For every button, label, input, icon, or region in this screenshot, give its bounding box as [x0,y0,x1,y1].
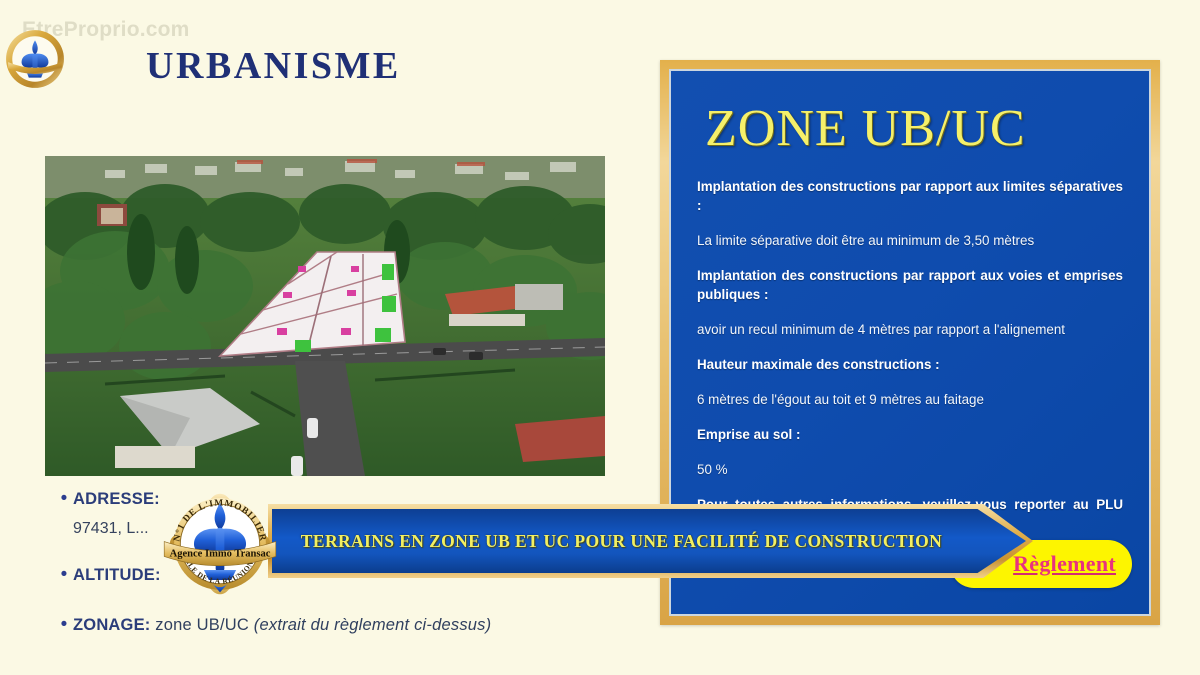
rule-heading-limites: Implantation des constructions par rappo… [697,177,1123,215]
bullet-icon: • [55,562,73,588]
slide-root: EtreProprio.com [0,0,1200,675]
detail-zonage: • ZONAGE: zone UB/UC (extrait du règleme… [55,612,491,642]
agency-logo: N°1 DE L'IMMOBILIER ILE DE LA RÉUNION Ag… [158,482,282,606]
detail-adresse: • ADRESSE: 97431, L... [55,486,160,542]
rule-text-hauteur: 6 mètres de l'égout au toit et 9 mètres … [697,390,1123,409]
rule-heading-voies: Implantation des constructions par rappo… [697,266,1123,304]
rule-heading-emprise: Emprise au sol : [697,425,1123,444]
detail-adresse-value: 97431, L... [73,516,160,542]
detail-zonage-label: ZONAGE: zone UB/UC (extrait du règlement… [73,612,491,638]
rule-text-emprise: 50 % [697,460,1123,479]
aerial-photo [45,156,605,476]
rule-heading-hauteur: Hauteur maximale des constructions : [697,355,1123,374]
rule-text-voies: avoir un recul minimum de 4 mètres par r… [697,320,1123,339]
page-title: URBANISME [146,44,401,88]
detail-adresse-label: ADRESSE: [73,486,160,512]
zone-title: ZONE UB/UC [705,101,1123,157]
bullet-icon: • [55,612,73,638]
corner-logo [4,28,66,90]
bullet-icon: • [55,486,73,512]
logo-name: Agence Immo Transac [170,548,271,559]
detail-altitude: • ALTITUDE: [55,562,161,592]
detail-altitude-label: ALTITUDE: [73,562,161,588]
ribbon-text: TERRAINS EN ZONE UB ET UC POUR UNE FACIL… [268,504,1033,578]
rule-text-limites: La limite séparative doit être au minimu… [697,231,1123,250]
ribbon-banner: TERRAINS EN ZONE UB ET UC POUR UNE FACIL… [268,504,1033,578]
